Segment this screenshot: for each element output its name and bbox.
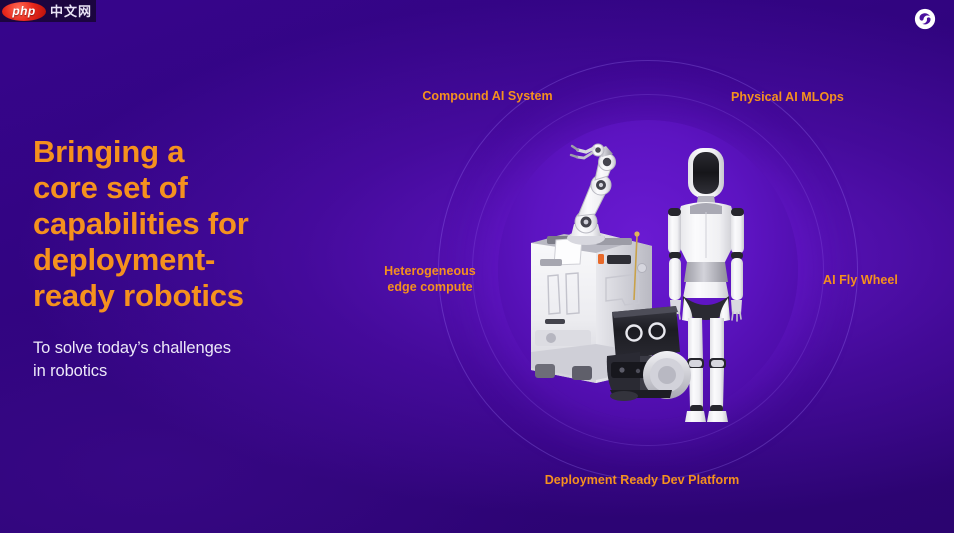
label-ai-fly-wheel: AI Fly Wheel (823, 272, 913, 288)
label-compound-ai-system: Compound AI System (420, 88, 555, 104)
label-deployment-ready-dev-platform: Deployment Ready Dev Platform (541, 472, 743, 488)
label-physical-ai-mlops: Physical AI MLOps (731, 89, 856, 105)
slide-root: php 中文网 Bringing a core set of capabilit… (0, 0, 954, 533)
robot-arm (567, 144, 616, 245)
service-robot (607, 306, 691, 401)
label-heterogeneous-edge-compute: Heterogeneous edge compute (378, 263, 482, 295)
